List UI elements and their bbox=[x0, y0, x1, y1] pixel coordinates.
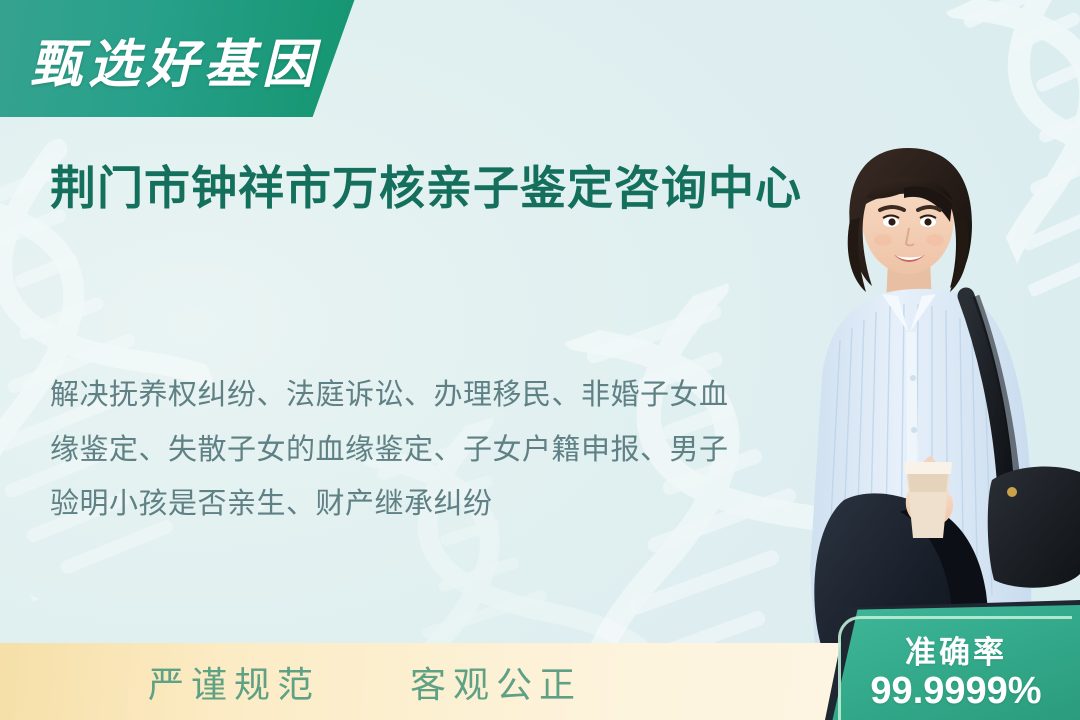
slogan-2: 客观公正 bbox=[410, 656, 582, 708]
brand-logo-text: 甄选好基因 bbox=[30, 22, 320, 97]
service-description: 解决抚养权纠纷、法庭诉讼、办理移民、非婚子女血缘鉴定、失散子女的血缘鉴定、子女户… bbox=[50, 368, 730, 532]
marketing-banner: 甄选好基因 荆门市钟祥市万核亲子鉴定咨询中心 解决抚养权纠纷、法庭诉讼、办理移民… bbox=[0, 0, 1080, 720]
accuracy-badge-value: 99.9999% bbox=[838, 670, 1074, 714]
accuracy-badge: 准确率 99.9999% bbox=[838, 635, 1074, 714]
accuracy-badge-label: 准确率 bbox=[838, 635, 1074, 671]
slogan-1: 严谨规范 bbox=[148, 656, 320, 708]
page-title: 荆门市钟祥市万核亲子鉴定咨询中心 bbox=[50, 156, 850, 221]
